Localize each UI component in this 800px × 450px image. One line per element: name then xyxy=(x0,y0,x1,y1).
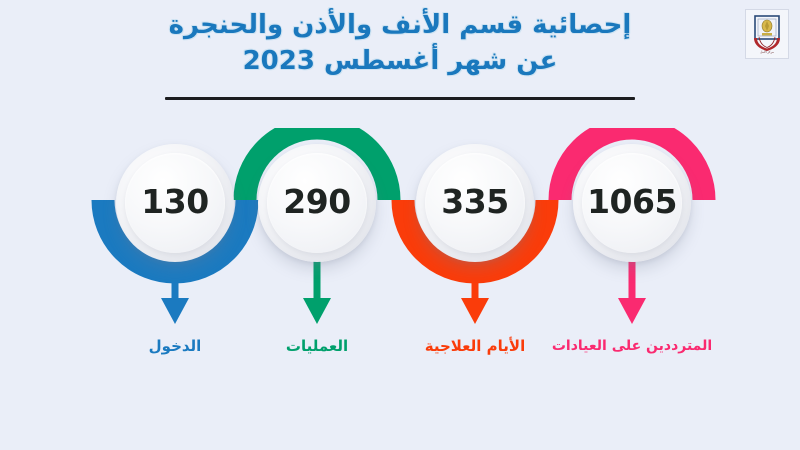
metric-value-clinic-visitors: 1065 xyxy=(552,185,712,218)
page-title: إحصائية قسم الأنف والأذن والحنجرة عن شهر… xyxy=(120,8,680,78)
metric-value-admissions: 130 xyxy=(95,185,255,218)
metric-value-treatment-days: 335 xyxy=(395,185,555,218)
metric-operations[interactable]: 290 العمليات xyxy=(237,128,397,378)
title-divider xyxy=(165,97,635,100)
title-line-2: عن شهر أغسطس 2023 xyxy=(120,44,680,78)
hospital-emblem-logo: مركز الأمل xyxy=(745,9,789,59)
infographic-poster: إحصائية قسم الأنف والأذن والحنجرة عن شهر… xyxy=(0,0,800,450)
title-line-1: إحصائية قسم الأنف والأذن والحنجرة xyxy=(120,8,680,42)
metric-label-clinic-visitors: المترددين على العيادات xyxy=(516,336,748,356)
metric-clinic-visitors[interactable]: 1065 المترددين على العيادات xyxy=(552,128,712,378)
header: إحصائية قسم الأنف والأذن والحنجرة عن شهر… xyxy=(0,0,800,112)
metric-value-operations: 290 xyxy=(237,185,397,218)
svg-text:مركز الأمل: مركز الأمل xyxy=(760,50,774,54)
emblem-icon: مركز الأمل xyxy=(750,14,784,54)
